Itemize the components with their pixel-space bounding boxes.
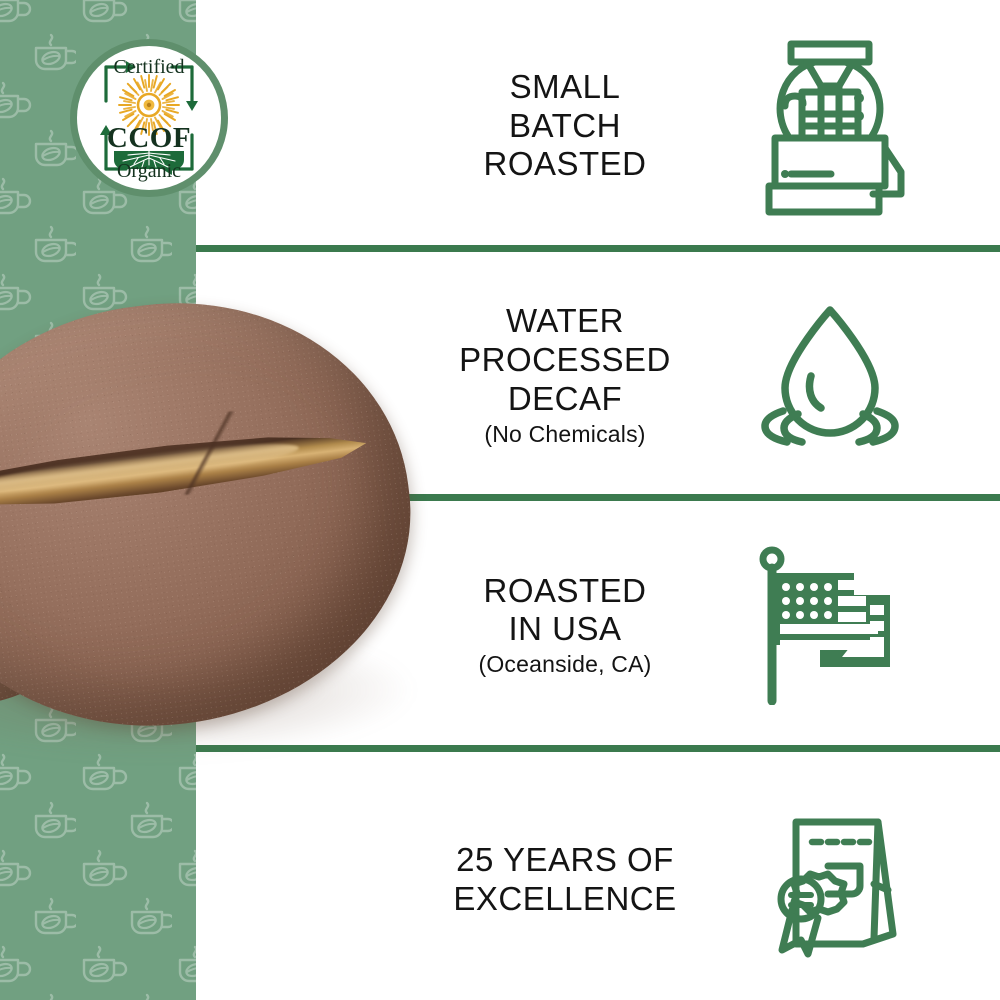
feature-subtitle-3: (Oceanside, CA) xyxy=(400,651,730,678)
roaster-knob-bottom xyxy=(854,111,864,121)
feature-icon-col-1 xyxy=(730,36,930,216)
feature-subtitle-2: (No Chemicals) xyxy=(400,421,730,448)
water-drop-icon xyxy=(753,298,908,453)
award-coffee-bag-icon xyxy=(748,798,913,963)
feature-row-years-of-excellence: 25 YEARS OF EXCELLENCE xyxy=(400,790,1000,970)
feature-title-2: WATER PROCESSED DECAF xyxy=(400,302,730,419)
feature-row-water-processed-decaf: WATER PROCESSED DECAF (No Chemicals) xyxy=(400,285,1000,465)
badge-bottom-label: Organic xyxy=(117,160,181,182)
feature-icon-col-4 xyxy=(730,798,930,963)
feature-text-2: WATER PROCESSED DECAF (No Chemicals) xyxy=(400,302,730,448)
roaster-knob-top xyxy=(854,93,864,103)
feature-title-4: 25 YEARS OF EXCELLENCE xyxy=(400,841,730,919)
feature-text-1: SMALL BATCH ROASTED xyxy=(400,68,730,185)
feature-row-roasted-in-usa: ROASTED IN USA (Oceanside, CA) xyxy=(400,535,1000,715)
section-divider-2 xyxy=(196,494,1000,501)
feature-icon-col-2 xyxy=(730,298,930,453)
section-divider-1 xyxy=(196,245,1000,252)
usa-flag-icon xyxy=(750,545,910,705)
feature-icon-col-3 xyxy=(730,545,930,705)
roaster-base-dot xyxy=(781,170,789,178)
ccof-certified-organic-badge: Certified xyxy=(68,37,230,199)
badge-acronym: CCOF xyxy=(107,122,191,154)
feature-title-3: ROASTED IN USA xyxy=(400,572,730,650)
feature-text-4: 25 YEARS OF EXCELLENCE xyxy=(400,841,730,919)
infographic-canvas: Certified xyxy=(0,0,1000,1000)
feature-row-small-batch-roasted: SMALL BATCH ROASTED xyxy=(400,36,1000,216)
feature-title-1: SMALL BATCH ROASTED xyxy=(400,68,730,185)
feature-text-3: ROASTED IN USA (Oceanside, CA) xyxy=(400,572,730,679)
section-divider-3 xyxy=(196,745,1000,752)
coffee-roaster-icon xyxy=(755,36,905,216)
